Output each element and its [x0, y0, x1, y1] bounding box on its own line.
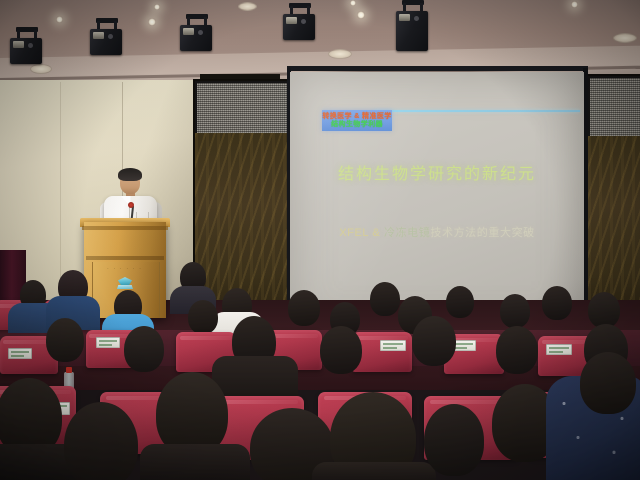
- slide-badge-line1: 转换医学 & 精准医学: [322, 113, 391, 120]
- downlight-icon: [154, 4, 160, 10]
- bottle-cap: [66, 367, 72, 373]
- audience-head: [424, 404, 484, 476]
- downlight-icon: [357, 11, 365, 19]
- wood-panel-top-trim: [200, 74, 280, 79]
- audience-head: [580, 352, 636, 414]
- audience-head: [446, 286, 474, 318]
- speaker-grille-panel-right: [588, 76, 640, 138]
- slide-subtitle: XFEL & 冷冻电镜技术方法的重大突破: [290, 224, 584, 240]
- seat-number-label: [546, 344, 572, 355]
- screen-frame-top: [287, 66, 588, 71]
- audience-head: [288, 290, 320, 326]
- seat-number-label: [8, 348, 32, 359]
- audience-head: [412, 316, 456, 366]
- audience-head: [370, 282, 400, 316]
- audience-head: [188, 300, 218, 334]
- slide-badge-line2: 结构生物学利器: [331, 121, 383, 128]
- slide-topic-badge: 转换医学 & 精准医学 结构生物学利器: [322, 110, 392, 131]
- seat-number-label: [96, 337, 120, 348]
- downlight-icon: [350, 0, 356, 6]
- audience-head: [588, 292, 620, 328]
- downlight-icon: [56, 16, 63, 23]
- speaker-grille-panel-left: [195, 81, 293, 135]
- audience-head: [320, 326, 362, 374]
- downlight-icon: [571, 1, 578, 8]
- seat-number-label: [380, 340, 406, 351]
- audience-head: [496, 326, 538, 374]
- lecture-hall-photo: 转换医学 & 精准医学 结构生物学利器 结构生物学研究的新纪元 XFEL & 冷…: [0, 0, 640, 480]
- microphone-icon: [128, 202, 134, 208]
- audience-head: [500, 294, 530, 328]
- slide-subtitle-mid: 冷冻电镜: [384, 227, 430, 239]
- audience-head: [124, 326, 164, 372]
- slide-divider-rule: [374, 110, 580, 112]
- oval-ceiling-light-icon: [613, 33, 637, 43]
- speaker-hair: [118, 168, 142, 181]
- audience-head: [46, 318, 84, 362]
- downlight-icon: [148, 18, 156, 26]
- oval-ceiling-light-icon: [328, 49, 352, 59]
- slide-subtitle-suffix: 技术方法的重大突破: [430, 227, 534, 239]
- audience-shoulders: [140, 444, 250, 480]
- oval-ceiling-light-icon: [238, 2, 257, 11]
- slide-title: 结构生物学研究的新纪元: [290, 160, 584, 184]
- audience-head: [64, 402, 138, 480]
- slide-subtitle-prefix: XFEL &: [339, 227, 384, 239]
- audience-shoulders: [312, 462, 436, 480]
- oval-ceiling-light-icon: [30, 64, 52, 74]
- audience-head: [542, 286, 572, 320]
